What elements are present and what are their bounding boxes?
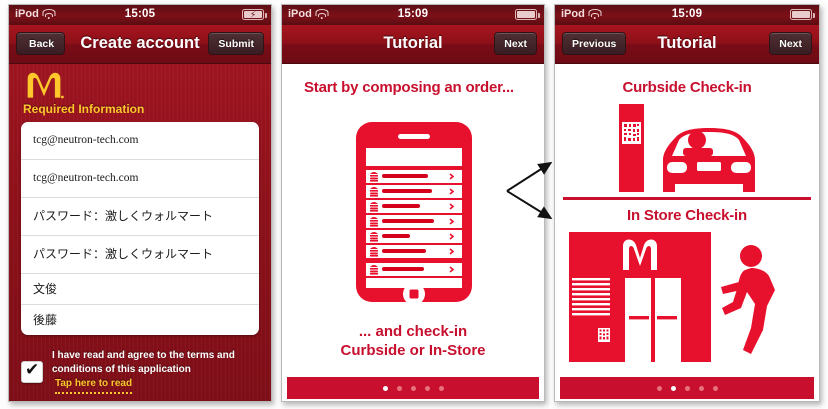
submit-button[interactable]: Submit: [208, 32, 264, 55]
navigation-bar: Previous Tutorial Next: [555, 25, 819, 64]
battery-icon: [515, 9, 537, 20]
terms-line-1: I have read and agree to the terms and: [52, 350, 235, 361]
required-information-form: tcg@neutron-tech.com tcg@neutron-tech.co…: [21, 122, 259, 335]
page-dot[interactable]: [685, 386, 690, 391]
store-front-with-walking-person-illustration: [569, 232, 807, 362]
tutorial-footer-line-1: ... and check-in: [359, 323, 467, 340]
tutorial-footer: ... and check-in Curbside or In-Store: [282, 322, 544, 360]
screenshot-stage: iPod 15:05 ⚡ Back Create account Submit …: [0, 0, 828, 409]
instore-checkin-title: In Store Check-in: [555, 206, 819, 225]
page-dot[interactable]: [439, 386, 444, 391]
car-at-qr-kiosk-illustration: [605, 104, 795, 196]
page-dot[interactable]: [699, 386, 704, 391]
terms-checkbox[interactable]: ✔: [21, 361, 43, 383]
next-button[interactable]: Next: [494, 32, 537, 55]
create-account-screen: iPod 15:05 ⚡ Back Create account Submit …: [8, 4, 272, 402]
confirm-email-field[interactable]: tcg@neutron-tech.com: [21, 160, 259, 198]
terms-text: I have read and agree to the terms and c…: [52, 349, 261, 394]
curbside-checkin-title: Curbside Check-in: [555, 78, 819, 97]
navigation-bar: Back Create account Submit: [9, 25, 271, 64]
page-dot[interactable]: [397, 386, 402, 391]
form-body: Required Information tcg@neutron-tech.co…: [9, 64, 271, 402]
tutorial-footer-line-2: Curbside or In-Store: [340, 342, 485, 359]
status-bar: iPod 15:09: [282, 5, 544, 25]
terms-line-2: conditions of this application: [52, 364, 191, 375]
page-dot[interactable]: [425, 386, 430, 391]
mcdonalds-arches-icon: [23, 69, 65, 99]
tutorial-body: Curbside Check-in: [555, 64, 819, 402]
status-bar: iPod 15:09: [555, 5, 819, 25]
navigation-bar: Tutorial Next: [282, 25, 544, 64]
page-dot[interactable]: [671, 386, 676, 391]
status-bar-time: 15:09: [555, 8, 819, 20]
status-bar-time: 15:09: [282, 8, 544, 20]
phone-order-list-illustration: [346, 122, 482, 302]
page-dot[interactable]: [713, 386, 718, 391]
page-indicator[interactable]: [560, 377, 814, 399]
section-divider: [563, 197, 811, 200]
page-indicator[interactable]: [287, 377, 539, 399]
tutorial-checkin-screen: iPod 15:09 Previous Tutorial Next Curbsi…: [554, 4, 820, 402]
email-field[interactable]: tcg@neutron-tech.com: [21, 122, 259, 160]
page-dot[interactable]: [411, 386, 416, 391]
first-name-field[interactable]: 文俊: [21, 274, 259, 305]
terms-read-link[interactable]: Tap here to read: [55, 377, 132, 394]
next-button[interactable]: Next: [769, 32, 812, 55]
status-bar-time: 15:05: [9, 8, 271, 20]
tutorial-body: Start by composing an order...: [282, 64, 544, 402]
password-field[interactable]: パスワード：激しくウォルマート: [21, 198, 259, 236]
battery-icon: [790, 9, 812, 20]
battery-charging-icon: ⚡: [242, 9, 264, 20]
required-information-label: Required Information: [23, 102, 144, 116]
page-dot[interactable]: [383, 386, 388, 391]
last-name-field[interactable]: 後藤: [21, 305, 259, 335]
fork-arrows-annotation: [505, 158, 567, 224]
terms-row: ✔ I have read and agree to the terms and…: [21, 349, 261, 394]
tutorial-heading: Start by composing an order...: [304, 78, 514, 97]
page-dot[interactable]: [657, 386, 662, 391]
status-bar: iPod 15:05 ⚡: [9, 5, 271, 25]
confirm-password-field[interactable]: パスワード：激しくウォルマート: [21, 236, 259, 274]
walking-person-icon: [721, 245, 775, 354]
